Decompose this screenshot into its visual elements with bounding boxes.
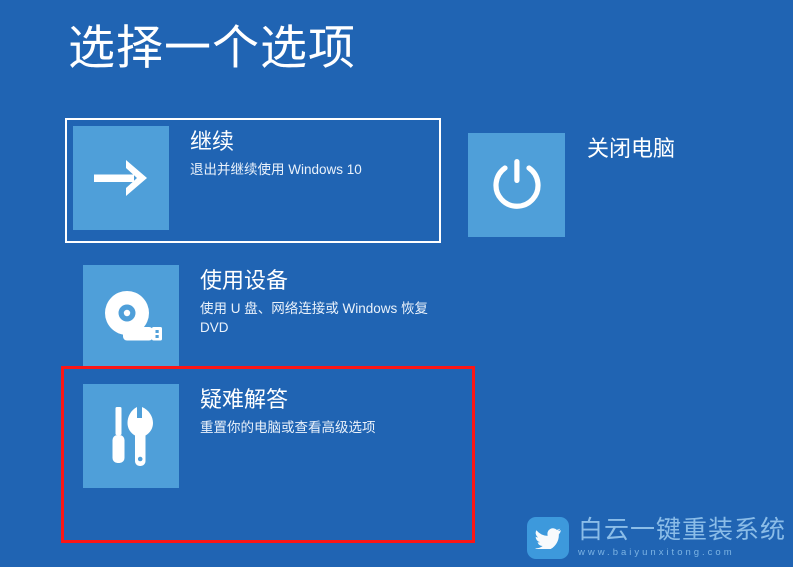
option-continue[interactable]: 继续 退出并继续使用 Windows 10	[65, 118, 441, 243]
arrow-right-icon	[92, 157, 150, 199]
option-use-a-device-title: 使用设备	[200, 267, 433, 295]
power-icon	[490, 157, 544, 213]
disc-usb-icon	[98, 288, 164, 346]
option-troubleshoot-text: 疑难解答 重置你的电脑或查看高级选项	[200, 384, 376, 437]
option-turn-off-pc-text: 关闭电脑	[587, 133, 675, 163]
option-turn-off-pc-tile	[468, 133, 565, 237]
option-use-a-device[interactable]: 使用设备 使用 U 盘、网络连接或 Windows 恢复 DVD	[75, 257, 441, 377]
option-use-a-device-text: 使用设备 使用 U 盘、网络连接或 Windows 恢复 DVD	[200, 265, 433, 338]
watermark: 白云一键重装系统 www.baiyunxitong.com	[527, 517, 786, 559]
option-troubleshoot-description: 重置你的电脑或查看高级选项	[200, 418, 376, 438]
option-turn-off-pc[interactable]: 关闭电脑	[468, 133, 675, 237]
screwdriver-wrench-icon	[107, 405, 155, 467]
option-continue-title: 继续	[190, 128, 362, 156]
bird-icon	[535, 527, 562, 549]
option-use-a-device-description: 使用 U 盘、网络连接或 Windows 恢复 DVD	[200, 299, 433, 338]
page-title: 选择一个选项	[68, 22, 356, 75]
watermark-name: 白云一键重装系统	[578, 518, 786, 543]
option-continue-text: 继续 退出并继续使用 Windows 10	[190, 126, 362, 179]
option-continue-tile	[73, 126, 169, 230]
watermark-badge	[527, 517, 569, 559]
option-troubleshoot[interactable]: 疑难解答 重置你的电脑或查看高级选项	[75, 376, 441, 496]
option-troubleshoot-title: 疑难解答	[200, 386, 376, 414]
watermark-text: 白云一键重装系统 www.baiyunxitong.com	[578, 518, 786, 558]
option-continue-description: 退出并继续使用 Windows 10	[190, 160, 362, 180]
option-troubleshoot-tile	[83, 384, 179, 488]
watermark-url: www.baiyunxitong.com	[578, 548, 786, 558]
option-use-a-device-tile	[83, 265, 179, 369]
option-turn-off-pc-title: 关闭电脑	[587, 135, 675, 163]
